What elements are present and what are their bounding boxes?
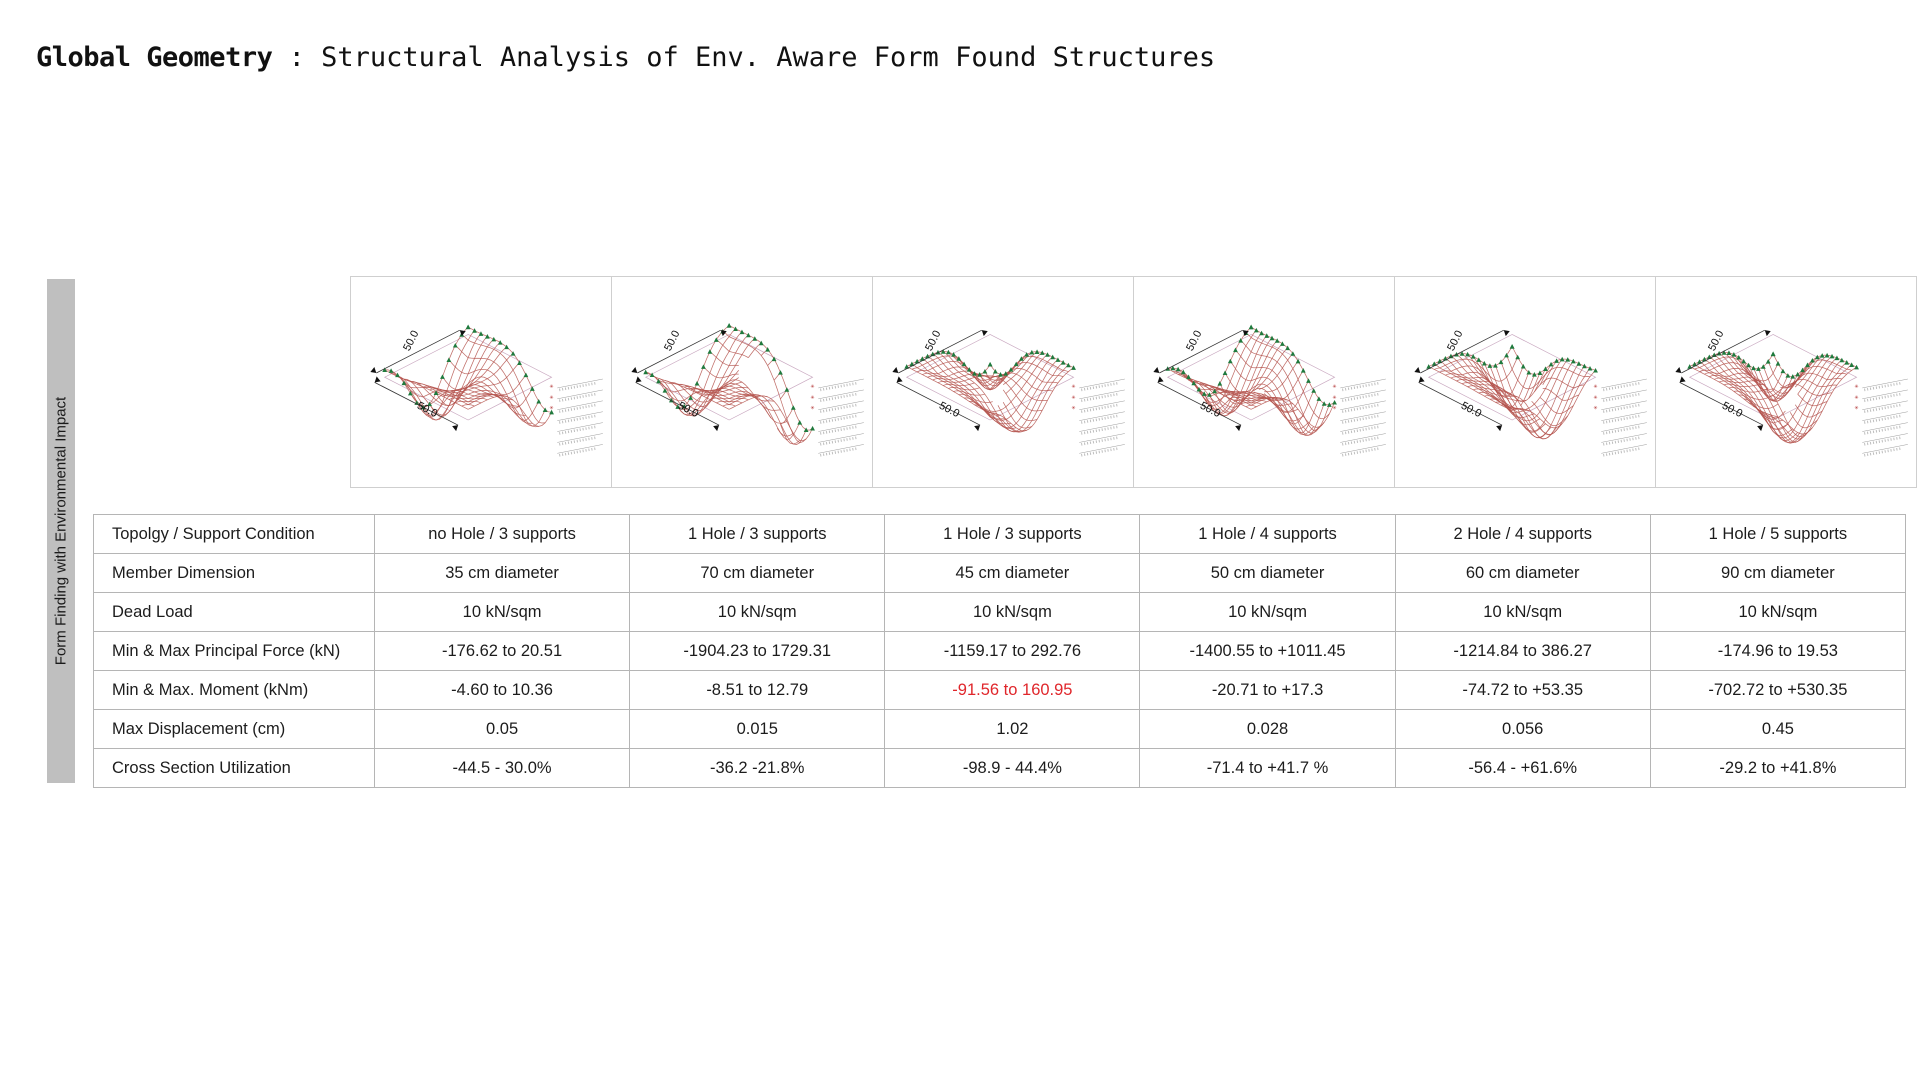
cell-cross_section_utilization: -71.4 to +41.7 % bbox=[1140, 749, 1395, 788]
cell-topology: 1 Hole / 5 supports bbox=[1650, 515, 1905, 554]
sidebar-section-label: Form Finding with Environmental Impact bbox=[53, 397, 70, 665]
cell-moment: -8.51 to 12.79 bbox=[630, 671, 885, 710]
cell-max_displacement: 0.05 bbox=[375, 710, 630, 749]
comparison-table: Topolgy / Support Conditionno Hole / 3 s… bbox=[93, 514, 1906, 788]
cell-topology: no Hole / 3 supports bbox=[375, 515, 630, 554]
geometry-thumbnail-1-hole-4-supports[interactable]: 50.050.0✳✳✳ bbox=[1133, 276, 1395, 488]
svg-text:✳: ✳ bbox=[549, 384, 553, 390]
cell-member_dimension: 60 cm diameter bbox=[1395, 554, 1650, 593]
cell-moment: -4.60 to 10.36 bbox=[375, 671, 630, 710]
row-label: Dead Load bbox=[94, 593, 375, 632]
row-label: Min & Max Principal Force (kN) bbox=[94, 632, 375, 671]
cell-principal_force: -1904.23 to 1729.31 bbox=[630, 632, 885, 671]
geometry-diagram: 50.050.0✳✳✳ bbox=[612, 277, 872, 487]
svg-text:✳: ✳ bbox=[1071, 395, 1075, 401]
svg-text:✳: ✳ bbox=[1854, 384, 1858, 390]
table-body: Topolgy / Support Conditionno Hole / 3 s… bbox=[94, 515, 1906, 788]
cell-moment: -74.72 to +53.35 bbox=[1395, 671, 1650, 710]
cell-topology: 2 Hole / 4 supports bbox=[1395, 515, 1650, 554]
cell-member_dimension: 70 cm diameter bbox=[630, 554, 885, 593]
row-label: Min & Max. Moment (kNm) bbox=[94, 671, 375, 710]
page-title: Global Geometry : Structural Analysis of… bbox=[36, 42, 1215, 73]
row-label: Member Dimension bbox=[94, 554, 375, 593]
geometry-diagram: 50.050.0✳✳✳ bbox=[1395, 277, 1655, 487]
svg-text:✳: ✳ bbox=[549, 395, 553, 401]
cell-principal_force: -1400.55 to +1011.45 bbox=[1140, 632, 1395, 671]
svg-text:✳: ✳ bbox=[1593, 395, 1597, 401]
svg-text:✳: ✳ bbox=[1332, 384, 1336, 390]
row-label: Cross Section Utilization bbox=[94, 749, 375, 788]
cell-member_dimension: 50 cm diameter bbox=[1140, 554, 1395, 593]
sidebar-section-tab[interactable]: Form Finding with Environmental Impact bbox=[47, 279, 75, 783]
svg-text:✳: ✳ bbox=[1332, 406, 1336, 412]
cell-moment: -20.71 to +17.3 bbox=[1140, 671, 1395, 710]
cell-member_dimension: 45 cm diameter bbox=[885, 554, 1140, 593]
cell-cross_section_utilization: -56.4 - +61.6% bbox=[1395, 749, 1650, 788]
cell-cross_section_utilization: -98.9 - 44.4% bbox=[885, 749, 1140, 788]
svg-text:50.0: 50.0 bbox=[415, 400, 439, 420]
cell-moment: -702.72 to +530.35 bbox=[1650, 671, 1905, 710]
row-label: Topolgy / Support Condition bbox=[94, 515, 375, 554]
geometry-thumbnail-no-hole-3-supports[interactable]: 50.050.0✳✳✳ bbox=[350, 276, 612, 488]
cell-max_displacement: 0.015 bbox=[630, 710, 885, 749]
geometry-diagram: 50.050.0✳✳✳ bbox=[1656, 277, 1916, 487]
geometry-thumbnail-2-hole-4-supports[interactable]: 50.050.0✳✳✳ bbox=[1394, 276, 1656, 488]
cell-max_displacement: 0.45 bbox=[1650, 710, 1905, 749]
cell-principal_force: -174.96 to 19.53 bbox=[1650, 632, 1905, 671]
cell-moment: -91.56 to 160.95 bbox=[885, 671, 1140, 710]
geometry-diagram: 50.050.0✳✳✳ bbox=[873, 277, 1133, 487]
svg-text:✳: ✳ bbox=[1593, 384, 1597, 390]
cell-max_displacement: 1.02 bbox=[885, 710, 1140, 749]
svg-text:✳: ✳ bbox=[1071, 406, 1075, 412]
cell-dead_load: 10 kN/sqm bbox=[375, 593, 630, 632]
geometry-thumbnail-1-hole-3-supports-b[interactable]: 50.050.0✳✳✳ bbox=[872, 276, 1134, 488]
svg-text:50.0: 50.0 bbox=[401, 329, 421, 353]
table-row: Cross Section Utilization-44.5 - 30.0%-3… bbox=[94, 749, 1906, 788]
cell-dead_load: 10 kN/sqm bbox=[630, 593, 885, 632]
geometry-thumbnail-strip: 50.050.0✳✳✳50.050.0✳✳✳50.050.0✳✳✳50.050.… bbox=[350, 276, 1920, 488]
cell-principal_force: -176.62 to 20.51 bbox=[375, 632, 630, 671]
cell-topology: 1 Hole / 3 supports bbox=[630, 515, 885, 554]
svg-text:50.0: 50.0 bbox=[1720, 400, 1744, 420]
table-row: Min & Max. Moment (kNm)-4.60 to 10.36-8.… bbox=[94, 671, 1906, 710]
table-row: Topolgy / Support Conditionno Hole / 3 s… bbox=[94, 515, 1906, 554]
svg-text:✳: ✳ bbox=[810, 395, 814, 401]
svg-text:✳: ✳ bbox=[1854, 406, 1858, 412]
svg-text:50.0: 50.0 bbox=[1445, 329, 1465, 353]
cell-max_displacement: 0.056 bbox=[1395, 710, 1650, 749]
page-title-rest: : Structural Analysis of Env. Aware Form… bbox=[272, 42, 1215, 73]
cell-member_dimension: 90 cm diameter bbox=[1650, 554, 1905, 593]
table-row: Min & Max Principal Force (kN)-176.62 to… bbox=[94, 632, 1906, 671]
svg-text:✳: ✳ bbox=[1332, 395, 1336, 401]
cell-topology: 1 Hole / 3 supports bbox=[885, 515, 1140, 554]
cell-principal_force: -1159.17 to 292.76 bbox=[885, 632, 1140, 671]
geometry-diagram: 50.050.0✳✳✳ bbox=[1134, 277, 1394, 487]
geometry-thumbnail-1-hole-5-supports[interactable]: 50.050.0✳✳✳ bbox=[1655, 276, 1917, 488]
table-row: Max Displacement (cm)0.050.0151.020.0280… bbox=[94, 710, 1906, 749]
svg-text:✳: ✳ bbox=[1071, 384, 1075, 390]
cell-dead_load: 10 kN/sqm bbox=[885, 593, 1140, 632]
cell-dead_load: 10 kN/sqm bbox=[1650, 593, 1905, 632]
svg-text:✳: ✳ bbox=[810, 406, 814, 412]
svg-text:✳: ✳ bbox=[1593, 406, 1597, 412]
cell-dead_load: 10 kN/sqm bbox=[1395, 593, 1650, 632]
svg-text:✳: ✳ bbox=[1854, 395, 1858, 401]
svg-text:50.0: 50.0 bbox=[923, 329, 943, 353]
svg-text:50.0: 50.0 bbox=[662, 329, 682, 353]
svg-text:50.0: 50.0 bbox=[1184, 329, 1204, 353]
cell-topology: 1 Hole / 4 supports bbox=[1140, 515, 1395, 554]
cell-cross_section_utilization: -36.2 -21.8% bbox=[630, 749, 885, 788]
cell-cross_section_utilization: -29.2 to +41.8% bbox=[1650, 749, 1905, 788]
svg-text:✳: ✳ bbox=[810, 384, 814, 390]
svg-text:50.0: 50.0 bbox=[937, 400, 961, 420]
row-label: Max Displacement (cm) bbox=[94, 710, 375, 749]
svg-text:50.0: 50.0 bbox=[676, 400, 700, 420]
geometry-thumbnail-1-hole-3-supports-a[interactable]: 50.050.0✳✳✳ bbox=[611, 276, 873, 488]
cell-principal_force: -1214.84 to 386.27 bbox=[1395, 632, 1650, 671]
cell-member_dimension: 35 cm diameter bbox=[375, 554, 630, 593]
table-row: Member Dimension35 cm diameter70 cm diam… bbox=[94, 554, 1906, 593]
table-row: Dead Load10 kN/sqm10 kN/sqm10 kN/sqm10 k… bbox=[94, 593, 1906, 632]
svg-text:✳: ✳ bbox=[549, 406, 553, 412]
geometry-diagram: 50.050.0✳✳✳ bbox=[351, 277, 611, 487]
svg-text:50.0: 50.0 bbox=[1706, 329, 1726, 353]
svg-text:50.0: 50.0 bbox=[1459, 400, 1483, 420]
cell-max_displacement: 0.028 bbox=[1140, 710, 1395, 749]
page-title-strong: Global Geometry bbox=[36, 42, 272, 73]
cell-dead_load: 10 kN/sqm bbox=[1140, 593, 1395, 632]
cell-cross_section_utilization: -44.5 - 30.0% bbox=[375, 749, 630, 788]
